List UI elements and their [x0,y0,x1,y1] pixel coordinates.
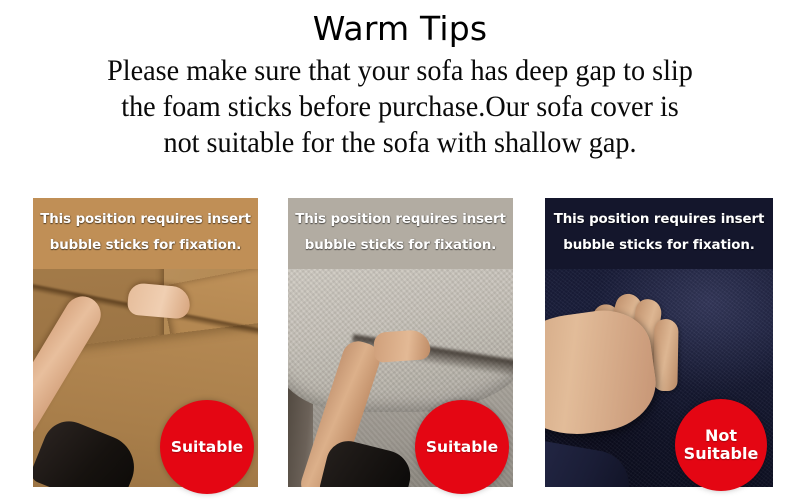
page-title: Warm Tips [0,12,800,45]
instruction-banner-tan: This position requires insert bubble sti… [33,198,258,269]
banner-line-1: This position requires insert [39,207,252,233]
badge-label: Suitable [426,438,498,456]
status-badge-suitable-grey: Suitable [415,400,509,494]
banner-line-1: This position requires insert [294,207,507,233]
badge-label-line-1: Not [684,427,759,445]
finger-little [654,319,679,391]
banner-line-2: bubble sticks for fixation. [294,233,507,259]
panel-navy-velvet-sofa: This position requires insert bubble sti… [545,198,773,487]
banner-line-1: This position requires insert [551,207,767,233]
instruction-banner-grey: This position requires insert bubble sti… [288,198,513,269]
status-badge-not-suitable-navy: Not Suitable [675,399,767,491]
banner-line-2: bubble sticks for fixation. [39,233,252,259]
tips-description: Please make sure that your sofa has deep… [43,53,757,161]
status-badge-suitable-tan: Suitable [160,400,254,494]
banner-line-2: bubble sticks for fixation. [551,233,767,259]
panel-grey-linen-sofa: This position requires insert bubble sti… [288,198,513,487]
panel-tan-leather-sofa: This position requires insert bubble sti… [33,198,258,487]
badge-label-line-2: Suitable [684,445,759,463]
comparison-panels: This position requires insert bubble sti… [0,198,800,490]
hand-in-gap-grey [373,329,431,363]
warm-tips-header: Warm Tips Please make sure that your sof… [0,0,800,161]
instruction-banner-navy: This position requires insert bubble sti… [545,198,773,269]
badge-label: Suitable [171,438,243,456]
